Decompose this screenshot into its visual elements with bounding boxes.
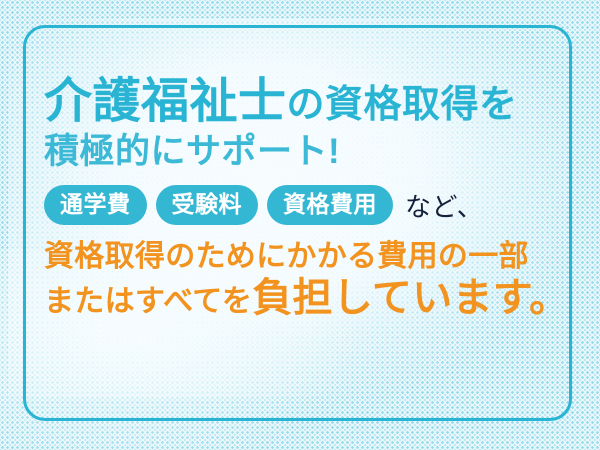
headline-line-1-tail: の資格取得を: [287, 84, 518, 126]
body-line-2-emphasis: 負担しています。: [252, 276, 569, 320]
pill-row-suffix-text: など、: [402, 187, 483, 224]
body-line-2-lead: またはすべてを: [44, 285, 252, 318]
headline-line-1: 介護福祉士の資格取得を: [44, 78, 564, 126]
promo-banner: 介護福祉士の資格取得を 積極的にサポート! 通学費 受験料 資格費用 など、 資…: [0, 0, 600, 450]
headline-line-2: 積極的にサポート!: [44, 134, 564, 169]
body-line-2: またはすべてを負担しています。: [44, 277, 564, 319]
banner-content: 介護福祉士の資格取得を 積極的にサポート! 通学費 受験料 資格費用 など、 資…: [44, 78, 564, 319]
body-line-1: 資格取得のためにかかる費用の一部: [44, 241, 564, 273]
headline-emphasis-qualification-name: 介護福祉士: [44, 75, 287, 128]
cost-pill-exam-fee: 受験料: [156, 185, 259, 225]
cost-pill-row: 通学費 受験料 資格費用 など、: [44, 185, 564, 225]
cost-pill-qualification-fee: 資格費用: [267, 185, 393, 225]
cost-pill-tuition: 通学費: [44, 185, 147, 225]
